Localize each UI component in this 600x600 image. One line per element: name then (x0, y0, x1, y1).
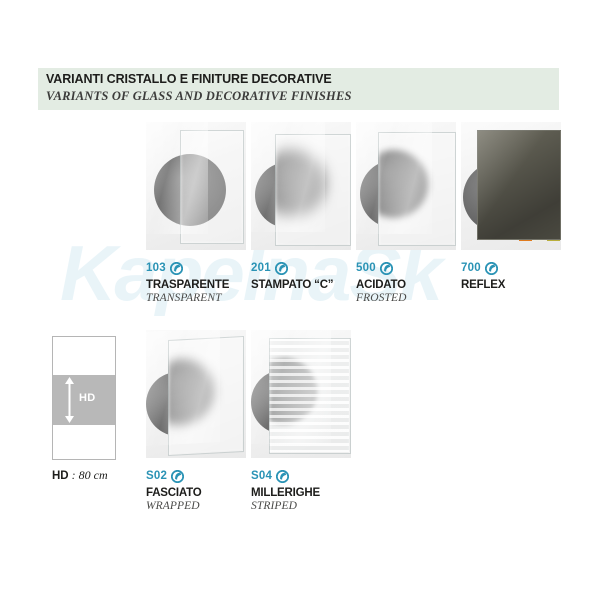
finish-name-it: ACIDATO (356, 279, 474, 291)
finish-image-500 (356, 122, 456, 250)
finish-code-row: S02 (146, 468, 264, 484)
glass-pane-icon (170, 262, 183, 275)
finish-code-row: 500 (356, 260, 474, 276)
finish-code: 700 (461, 262, 481, 274)
glass-sheen (146, 122, 208, 234)
finish-name-en: FROSTED (356, 292, 474, 304)
finish-name-it: REFLEX (461, 279, 579, 291)
hd-caption-value: 80 cm (79, 468, 108, 482)
hd-caption-key: HD (52, 470, 69, 482)
finish-caption-500: 500 ACIDATO FROSTED (356, 260, 474, 304)
glass-pane-icon (276, 470, 289, 483)
finish-code-row: S04 (251, 468, 369, 484)
page-title: VARIANTI CRISTALLO E FINITURE DECORATIVE (46, 72, 332, 86)
finish-code-row: 700 (461, 260, 579, 276)
finish-card-700[interactable]: 700 REFLEX (461, 122, 579, 292)
hd-diagram: HD (52, 336, 116, 460)
finish-caption-700: 700 REFLEX (461, 260, 579, 291)
hd-band-label: HD (79, 392, 96, 404)
finish-code-row: 103 (146, 260, 264, 276)
finish-name-en: TRANSPARENT (146, 292, 264, 304)
glass-sheen (146, 330, 220, 446)
finish-code: S04 (251, 470, 272, 482)
finish-code: S02 (146, 470, 167, 482)
finish-code: 500 (356, 262, 376, 274)
glass-pane-icon (171, 470, 184, 483)
finish-code-row: 201 (251, 260, 369, 276)
finish-name-it: TRASPARENTE (146, 279, 264, 291)
finish-image-700 (461, 122, 561, 250)
finish-card-500[interactable]: 500 ACIDATO FROSTED (356, 122, 474, 304)
finish-image-103 (146, 122, 246, 250)
glass-sheen (356, 122, 432, 234)
finish-caption-S02: S02 FASCIATO WRAPPED (146, 468, 264, 512)
page-subtitle: VARIANTS OF GLASS AND DECORATIVE FINISHE… (46, 89, 352, 104)
glass-sheen (477, 130, 559, 238)
finish-caption-103: 103 TRASPARENTE TRANSPARENT (146, 260, 264, 304)
finish-code: 103 (146, 262, 166, 274)
finish-name-it: FASCIATO (146, 487, 264, 499)
finish-caption-201: 201 STAMPATO “C” (251, 260, 369, 291)
glass-pane-icon (380, 262, 393, 275)
hd-caption: HD : 80 cm (52, 468, 108, 483)
finish-name-en: STRIPED (251, 500, 369, 512)
finish-card-103[interactable]: 103 TRASPARENTE TRANSPARENT (146, 122, 264, 304)
finish-card-S04[interactable]: S04 MILLERIGHE STRIPED (251, 330, 369, 512)
finish-name-it: MILLERIGHE (251, 487, 369, 499)
finish-name-it: STAMPATO “C” (251, 279, 369, 291)
double-headed-vertical-arrow-icon (64, 377, 75, 423)
glass-sheen (251, 330, 331, 444)
glass-pane-icon (275, 262, 288, 275)
finish-image-S04 (251, 330, 351, 458)
finish-card-201[interactable]: 201 STAMPATO “C” (251, 122, 369, 292)
finish-card-S02[interactable]: S02 FASCIATO WRAPPED (146, 330, 264, 512)
finish-name-en: WRAPPED (146, 500, 264, 512)
finish-caption-S04: S04 MILLERIGHE STRIPED (251, 468, 369, 512)
glass-sheen (251, 122, 325, 232)
finish-code: 201 (251, 262, 271, 274)
section-header-band: VARIANTI CRISTALLO E FINITURE DECORATIVE… (38, 68, 559, 110)
finish-image-S02 (146, 330, 246, 458)
finish-image-201 (251, 122, 351, 250)
glass-pane-icon (485, 262, 498, 275)
hd-caption-sep: : (69, 468, 79, 482)
